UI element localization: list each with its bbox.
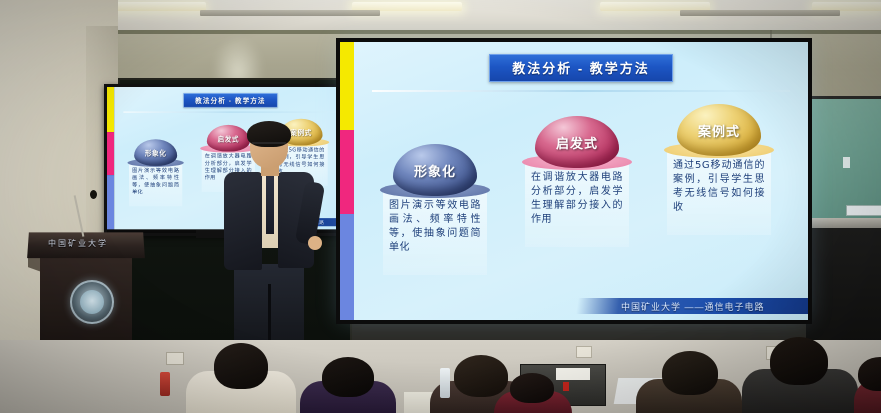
university-emblem-icon xyxy=(70,280,114,324)
audience-member xyxy=(742,337,858,413)
method-body-box-3: 通过5G移动通信的案例，引导学生思考无线信号如何接收 xyxy=(667,151,771,235)
audience-member xyxy=(300,357,396,413)
method-body-3: 通过5G移动通信的案例，引导学生思考无线信号如何接收 xyxy=(673,159,765,215)
monitor-slide-title: 教法分析 - 教学方法 xyxy=(183,93,277,107)
wall-socket xyxy=(166,352,184,365)
glasses-icon xyxy=(252,142,286,151)
method-body-2: 在调谐放大器电路分析部分，启发学生理解部分接入的作用 xyxy=(531,171,623,227)
method-label-2: 启发式 xyxy=(556,133,598,152)
chalkboard-label xyxy=(846,205,881,216)
method-label-1: 形象化 xyxy=(414,161,456,180)
presenter xyxy=(216,124,322,354)
ceiling xyxy=(0,0,881,34)
chalkboard-tray xyxy=(806,218,881,228)
method-body-1: 图片演示等效电路画法、频率特性等，使抽象问题简单化 xyxy=(389,199,481,255)
chalkboard-note xyxy=(843,157,850,168)
wall-socket xyxy=(576,346,592,358)
audience-member xyxy=(854,357,881,413)
monitor-method-label-1: 形象化 xyxy=(145,148,167,158)
right-dark-panel xyxy=(806,228,881,346)
presenter-tie xyxy=(266,176,274,234)
drink-bottle xyxy=(160,372,170,396)
wall-top-edge xyxy=(0,30,881,34)
audience-member xyxy=(494,373,572,413)
method-body-box-1: 图片演示等效电路画法、频率特性等，使抽象问题简单化 xyxy=(383,191,487,275)
presenter-hand xyxy=(308,236,322,250)
audience-member xyxy=(636,351,742,413)
presenter-jacket-left xyxy=(224,172,262,270)
method-label-3: 案例式 xyxy=(698,121,740,140)
emblem-inner xyxy=(80,290,104,314)
microphone-icon xyxy=(90,190,97,199)
audience-member xyxy=(186,343,296,413)
lecture-hall-scene: 教法分析 - 教学方法 形象化 图片演示等效电路画法、频率特性等，使抽象问题简单… xyxy=(0,0,881,413)
method-body-box-2: 在调谐放大器电路分析部分，启发学生理解部分接入的作用 xyxy=(525,163,629,247)
drink-bottle xyxy=(440,368,450,398)
monitor-method-body-1: 图片演示等效电路画法、频率特性等，使抽象问题简单化 xyxy=(132,167,179,196)
lectern-nameplate: 中国矿业大学 xyxy=(48,238,108,249)
